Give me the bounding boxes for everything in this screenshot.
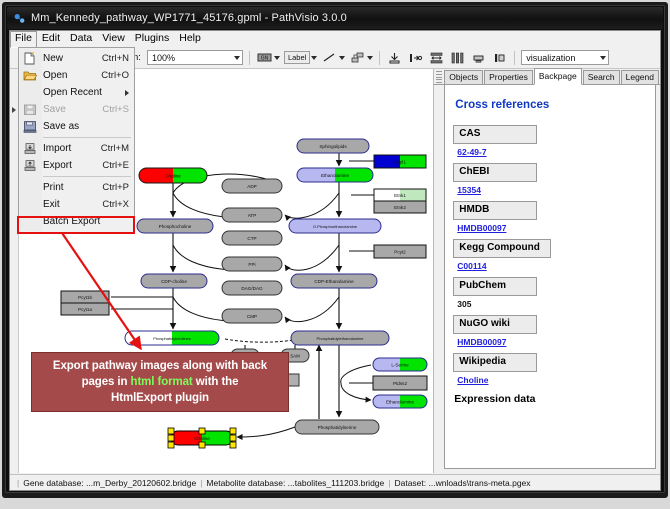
status-bar: | Gene database: ...m_Derby_20120602.bri…: [10, 474, 660, 490]
xref-cas-link[interactable]: 62-49-7: [457, 147, 486, 157]
align-left-button[interactable]: [407, 50, 424, 66]
file-menu-import-accel: Ctrl+M: [101, 143, 129, 154]
file-menu-new-accel: Ctrl+N: [102, 53, 129, 64]
expression-data-title: Expression data: [454, 393, 647, 405]
status-divider: |: [13, 478, 23, 488]
datanode-dropdown-button[interactable]: GN: [256, 50, 280, 66]
file-menu-item-open[interactable]: Open Ctrl+O: [19, 67, 134, 84]
right-sidebar: Objects Properties Backpage Search Legen…: [434, 69, 660, 473]
zoom-combo[interactable]: 100%: [147, 50, 243, 65]
xref-kegg: Kegg Compound C00114: [453, 239, 647, 271]
file-menu-save-label: Save: [43, 104, 102, 115]
tab-properties[interactable]: Properties: [484, 70, 533, 84]
submenu-arrow-icon: [125, 90, 129, 96]
chevron-down-icon: [234, 56, 240, 60]
tab-legend[interactable]: Legend: [621, 70, 659, 84]
new-document-icon: [23, 52, 37, 65]
xref-chebi-label: ChEBI: [453, 163, 537, 182]
save-as-icon: [23, 120, 37, 133]
menu-data[interactable]: Data: [65, 31, 97, 47]
file-menu-save-as-label: Save as: [43, 121, 129, 132]
xref-kegg-value[interactable]: C00114: [453, 258, 647, 271]
xref-kegg-label: Kegg Compound: [453, 239, 551, 258]
file-menu-export-accel: Ctrl+E: [102, 160, 129, 171]
file-menu-item-open-recent[interactable]: Open Recent: [19, 84, 134, 101]
file-menu-save-accel: Ctrl+S: [102, 104, 129, 115]
xref-nugo: NuGO wiki HMDB00097: [453, 315, 647, 347]
xref-cas-value[interactable]: 62-49-7: [453, 144, 647, 157]
status-dataset: Dataset: ...wnloads\trans-meta.pgex: [394, 478, 530, 488]
status-gene-database: Gene database: ...m_Derby_20120602.bridg…: [23, 478, 196, 488]
file-menu-open-label: Open: [43, 70, 101, 81]
file-menu-dropdown[interactable]: New Ctrl+N Open Ctrl+O Open Recent: [18, 47, 135, 233]
xref-chebi-value[interactable]: 15354: [453, 182, 647, 195]
annotation-callout: Export pathway images along with back pa…: [31, 352, 289, 412]
file-menu-print-label: Print: [43, 182, 102, 193]
file-menu-separator: [43, 137, 131, 138]
line-icon: [321, 50, 338, 66]
file-menu-exit-label: Exit: [43, 199, 102, 210]
file-menu-batch-export-label: Batch Export: [43, 216, 129, 227]
file-menu-item-print[interactable]: Print Ctrl+P: [19, 179, 134, 196]
align-top-button[interactable]: [386, 50, 403, 66]
xref-nugo-value[interactable]: HMDB00097: [453, 334, 647, 347]
xref-kegg-link[interactable]: C00114: [457, 261, 486, 271]
status-metabolite-database: Metabolite database: ...tabolites_111203…: [206, 478, 384, 488]
status-divider: |: [196, 478, 206, 488]
xref-wikipedia: Wikipedia Choline: [453, 353, 647, 385]
zoom-value: 100%: [152, 53, 175, 63]
file-menu-item-batch-export[interactable]: Batch Export: [19, 213, 134, 230]
xref-hmdb-link[interactable]: HMDB00097: [457, 223, 506, 233]
toolbar-separator: [379, 51, 380, 65]
file-menu-item-save: Save Ctrl+S: [19, 101, 134, 118]
callout-line-2-pre: pages in: [82, 376, 131, 388]
export-icon: [23, 159, 37, 172]
file-menu-open-accel: Ctrl+O: [101, 70, 129, 81]
file-menu-import-label: Import: [43, 143, 101, 154]
pathvisio-app-icon: [13, 12, 26, 25]
size-equal-button[interactable]: [470, 50, 487, 66]
app-client-area: File Edit Data View Plugins Help Zoom: 1…: [9, 30, 661, 491]
chevron-down-icon: [274, 56, 280, 60]
window-title-text: Mm_Kennedy_pathway_WP1771_45176.gpml - P…: [31, 12, 347, 24]
menu-bar: File Edit Data View Plugins Help: [10, 31, 660, 47]
xref-hmdb: HMDB HMDB00097: [453, 201, 647, 233]
menu-plugins[interactable]: Plugins: [130, 31, 174, 47]
open-folder-icon: [23, 69, 37, 82]
annotation-callout-text: Export pathway images along with back pa…: [47, 358, 273, 406]
tab-objects[interactable]: Objects: [444, 70, 483, 84]
file-menu-print-accel: Ctrl+P: [102, 182, 129, 193]
menu-view[interactable]: View: [97, 31, 130, 47]
visualization-value: visualization: [526, 53, 575, 63]
chevron-down-icon: [367, 56, 373, 60]
distribute-horizontal-button[interactable]: [449, 50, 466, 66]
sidebar-tabstrip: Objects Properties Backpage Search Legen…: [434, 69, 660, 85]
import-icon: [23, 142, 37, 155]
menu-edit[interactable]: Edit: [37, 31, 65, 47]
collapse-arrow-icon[interactable]: [12, 107, 16, 113]
xref-pubchem: PubChem 305: [453, 277, 647, 309]
window-titlebar[interactable]: Mm_Kennedy_pathway_WP1771_45176.gpml - P…: [7, 7, 663, 29]
datanode-icon: GN: [256, 50, 273, 66]
toolbar-separator: [514, 51, 515, 65]
file-menu-item-save-as[interactable]: Save as: [19, 118, 134, 135]
callout-line-3: HtmlExport plugin: [111, 392, 209, 404]
xref-hmdb-value[interactable]: HMDB00097: [453, 220, 647, 233]
save-disk-icon: [23, 103, 37, 116]
label-button-text: Label: [284, 51, 310, 64]
cross-references-title: Cross references: [455, 99, 647, 111]
tab-search[interactable]: Search: [583, 70, 620, 84]
xref-wikipedia-label: Wikipedia: [453, 353, 537, 372]
svg-text:GN: GN: [261, 56, 269, 62]
chevron-down-icon: [600, 56, 606, 60]
file-menu-item-new[interactable]: New Ctrl+N: [19, 50, 134, 67]
app-window-root: Mm_Kennedy_pathway_WP1771_45176.gpml - P…: [0, 0, 670, 509]
chevron-down-icon: [339, 56, 345, 60]
xref-wikipedia-value[interactable]: Choline: [453, 372, 647, 385]
file-menu-item-export[interactable]: Export Ctrl+E: [19, 157, 134, 174]
xref-nugo-link[interactable]: HMDB00097: [457, 337, 506, 347]
distribute-vertical-button[interactable]: [428, 50, 445, 66]
callout-line-2-highlight: html format: [131, 376, 193, 388]
file-menu-exit-accel: Ctrl+X: [102, 199, 129, 210]
file-menu-separator: [43, 176, 131, 177]
xref-nugo-label: NuGO wiki: [453, 315, 537, 334]
toolbar-separator: [249, 51, 250, 65]
file-menu-new-label: New: [43, 53, 102, 64]
menu-help[interactable]: Help: [174, 31, 206, 47]
file-menu-item-import[interactable]: Import Ctrl+M: [19, 140, 134, 157]
xref-chebi: ChEBI 15354: [453, 163, 647, 195]
xref-hmdb-label: HMDB: [453, 201, 537, 220]
xref-cas-label: CAS: [453, 125, 537, 144]
chevron-down-icon: [311, 56, 317, 60]
visualization-combo[interactable]: visualization: [521, 50, 609, 65]
status-divider: |: [384, 478, 394, 488]
tab-backpage[interactable]: Backpage: [534, 68, 582, 85]
xref-cas: CAS 62-49-7: [453, 125, 647, 157]
line-dropdown-button[interactable]: [321, 50, 345, 66]
file-menu-item-exit[interactable]: Exit Ctrl+X: [19, 196, 134, 213]
xref-pubchem-label: PubChem: [453, 277, 537, 296]
xref-pubchem-value: 305: [453, 296, 647, 309]
callout-line-1: Export pathway images along with back: [53, 360, 267, 372]
callout-line-2-post: with the: [193, 376, 239, 388]
backpage-content: Cross references CAS 62-49-7 ChEBI 15354…: [444, 85, 656, 469]
shape-icon: [349, 50, 366, 66]
xref-wikipedia-link[interactable]: Choline: [457, 375, 488, 385]
menu-file[interactable]: File: [10, 31, 37, 48]
sidebar-drag-handle[interactable]: [436, 71, 442, 83]
file-menu-export-label: Export: [43, 160, 102, 171]
label-dropdown-button[interactable]: Label: [284, 51, 317, 64]
xref-chebi-link[interactable]: 15354: [457, 185, 481, 195]
file-menu-open-recent-label: Open Recent: [43, 87, 125, 98]
bring-front-button[interactable]: [491, 50, 508, 66]
shape-dropdown-button[interactable]: [349, 50, 373, 66]
